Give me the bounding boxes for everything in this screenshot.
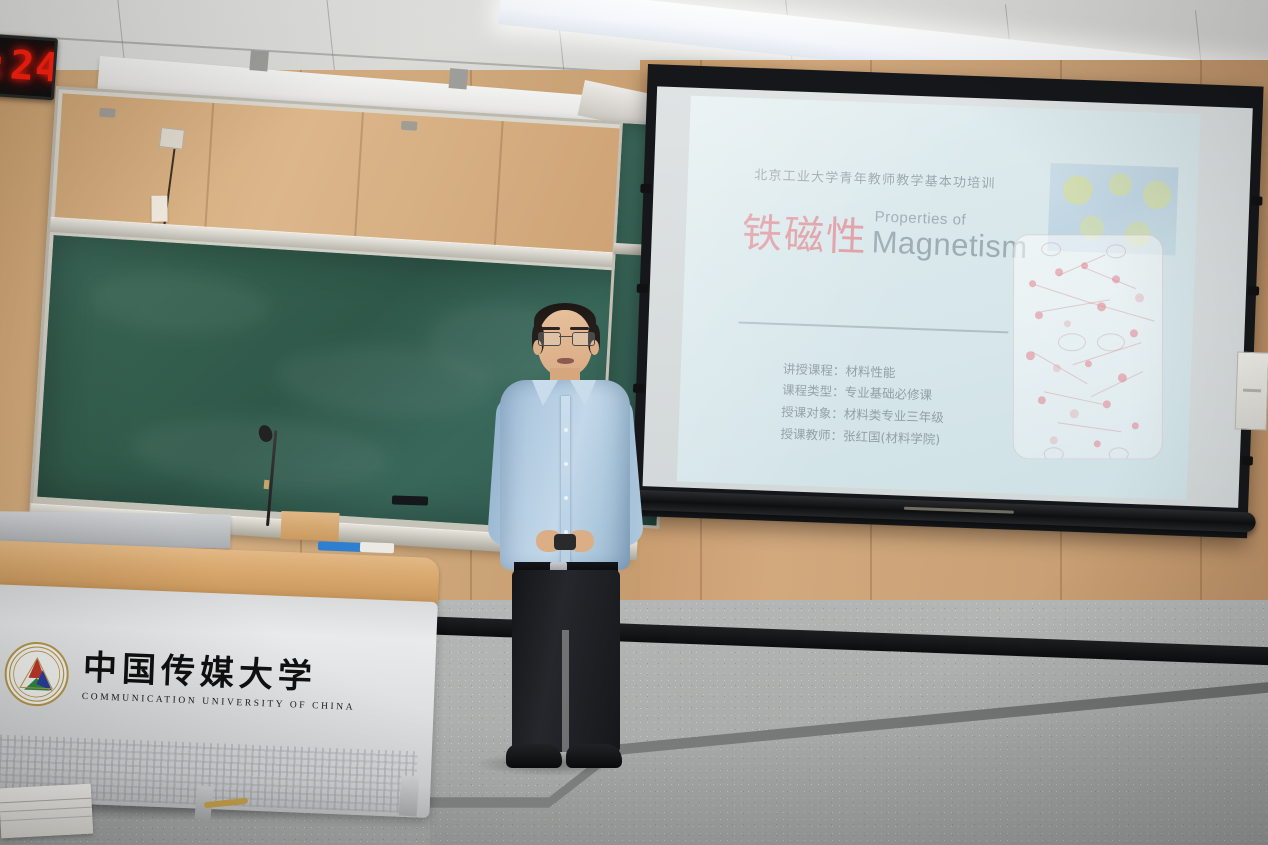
board-clip <box>401 121 418 131</box>
university-emblem-icon <box>3 641 70 708</box>
slide-divider-rule <box>739 321 1009 333</box>
chalk-ledge-block <box>281 511 340 541</box>
lectern-leg <box>399 775 420 816</box>
slide-title-chinese: 铁磁性 <box>741 213 868 258</box>
slide-title: 铁磁性 Properties of Magnetism <box>741 213 1028 263</box>
shoe-left <box>506 744 562 768</box>
slide-figure-crystal-lattice <box>999 161 1178 460</box>
screen-surface: 北京工业大学青年教师教学基本功培训 铁磁性 Properties of Magn… <box>643 86 1253 508</box>
lecture-hall-photo: :24 <box>0 0 1268 845</box>
paper-note <box>151 196 167 222</box>
lectern-front-panel: 中国传媒大学 COMMUNICATION UNIVERSITY OF CHINA <box>0 584 438 818</box>
led-wall-clock: :24 <box>0 34 58 101</box>
slide-info-line: 授课教师：张红国(材料学院) <box>780 423 943 451</box>
glasses <box>538 332 593 344</box>
wall-control-panel[interactable] <box>1235 351 1268 430</box>
projection-screen[interactable]: 北京工业大学青年教师教学基本功培训 铁磁性 Properties of Magn… <box>631 64 1263 538</box>
projected-slide: 北京工业大学青年教师教学基本功培训 铁磁性 Properties of Magn… <box>677 96 1201 500</box>
wall-speaker-bracket <box>159 127 185 150</box>
shoe-right <box>566 744 622 768</box>
mouth <box>557 358 574 364</box>
lectern[interactable]: 中国传媒大学 COMMUNICATION UNIVERSITY OF CHINA <box>0 540 440 818</box>
slide-title-english-big: Magnetism <box>871 224 1028 265</box>
clock-digits: :24 <box>0 39 57 94</box>
blue-marker[interactable] <box>318 541 364 552</box>
presenter <box>470 300 660 780</box>
slide-info-block: 讲授课程：材料性能 课程类型：专业基础必修课 授课对象：材料类专业三年级 授课教… <box>780 358 946 451</box>
slide-kicker: 北京工业大学青年教师教学基本功培训 <box>754 164 996 192</box>
university-name: 中国传媒大学 COMMUNICATION UNIVERSITY OF CHINA <box>82 650 357 712</box>
university-name-chinese: 中国传媒大学 <box>82 650 357 695</box>
presenter-remote[interactable] <box>554 534 576 550</box>
blackboard-eraser[interactable] <box>392 495 428 505</box>
paper-stack[interactable] <box>0 784 93 839</box>
slide-title-english: Properties of Magnetism <box>871 224 1028 266</box>
microphone-band <box>264 480 270 489</box>
slide-figure-card <box>1013 235 1163 460</box>
university-logo: 中国传媒大学 COMMUNICATION UNIVERSITY OF CHINA <box>3 641 357 719</box>
board-clip <box>99 108 116 118</box>
paper-slip[interactable] <box>360 542 394 553</box>
